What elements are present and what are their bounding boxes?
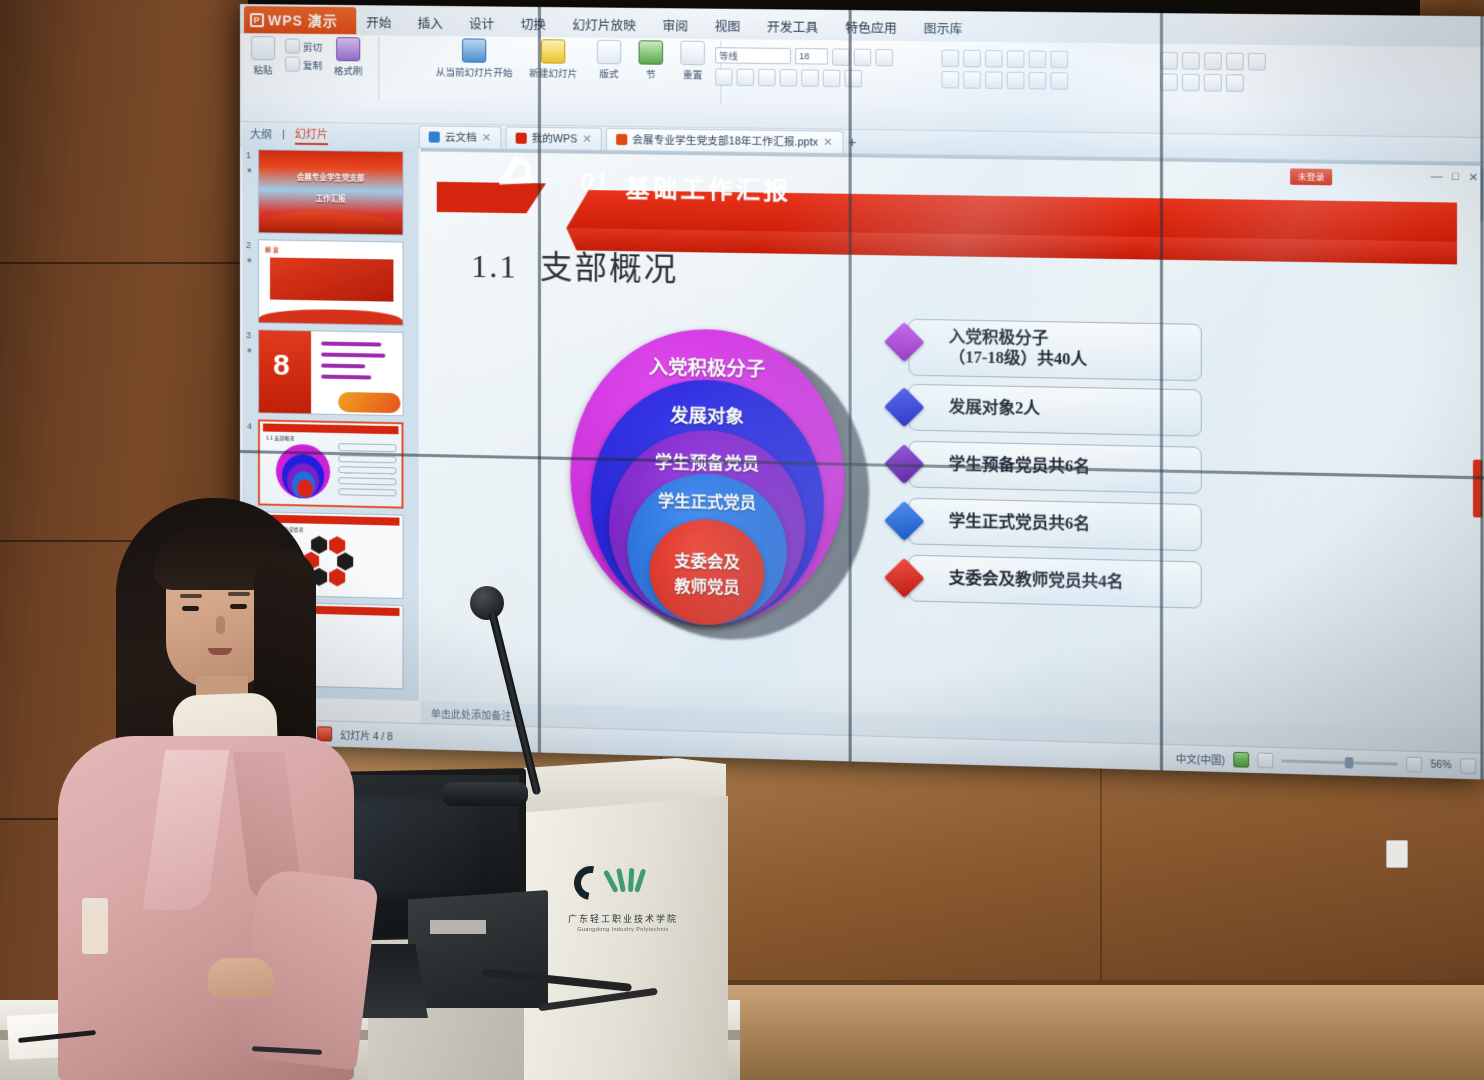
highlight-icon[interactable] xyxy=(844,70,862,87)
legend-row-full-members[interactable]: 学生正式党员共6名 xyxy=(890,497,1202,555)
font-color-icon[interactable] xyxy=(823,70,840,87)
thumb4-title: 1.1 支部概况 xyxy=(266,435,294,443)
subtitle-text: 支部概况 xyxy=(540,249,678,288)
copy-icon xyxy=(285,57,300,72)
legend-row-development[interactable]: 发展对象2人 xyxy=(890,383,1202,440)
select-icon[interactable] xyxy=(1226,74,1244,92)
notes-placeholder: 单击此处添加备注 xyxy=(431,705,512,722)
subtitle-number: 1.1 xyxy=(471,248,518,285)
pptx-file-icon xyxy=(616,133,627,144)
reset-icon xyxy=(680,41,705,66)
new-slide-label: 新建幻灯片 xyxy=(529,65,577,80)
cloud-icon xyxy=(429,131,440,142)
account-status-button[interactable]: 未登录 xyxy=(1290,168,1332,185)
tab-outline[interactable]: 大纲 xyxy=(250,126,272,142)
numbering-icon[interactable] xyxy=(963,50,981,68)
grow-font-icon[interactable] xyxy=(832,48,850,65)
tab-design[interactable]: 设计 xyxy=(469,13,494,32)
legend-full-members-text: 学生正式党员共6名 xyxy=(949,512,1090,536)
section-button[interactable]: 节 xyxy=(632,40,669,81)
tab-start[interactable]: 开始 xyxy=(366,12,391,31)
slide-editing-stage[interactable]: 01 基础工作汇报 1.1 支部概况 入党积极分子 发展对象 学 xyxy=(421,148,1481,729)
text-direction-icon[interactable] xyxy=(1029,72,1047,90)
zoom-out-icon[interactable] xyxy=(1257,753,1273,769)
legend-row-probationary[interactable]: 学生预备党员共6名 xyxy=(890,440,1202,498)
tab-developer[interactable]: 开发工具 xyxy=(767,16,818,36)
increase-indent-icon[interactable] xyxy=(1007,50,1025,68)
thumbnail-slide-1[interactable]: 1 ✷ 会展专业学生党支部 工作汇报 xyxy=(258,149,404,235)
section-title: 基础工作汇报 xyxy=(625,168,791,206)
ribbon-group-drawing xyxy=(1160,46,1266,133)
tab-view[interactable]: 视图 xyxy=(715,15,741,34)
new-slide-button[interactable]: 新建幻灯片 xyxy=(521,39,586,80)
strikethrough-icon[interactable] xyxy=(780,69,797,86)
zoom-slider[interactable] xyxy=(1282,759,1398,765)
eye-right xyxy=(230,604,247,609)
app-name: WPS 演示 xyxy=(268,10,338,31)
replace-icon[interactable] xyxy=(1204,74,1222,92)
shape-fill-icon[interactable] xyxy=(1226,53,1244,71)
legend-list: 入党积极分子 （17-18级）共40人 发展对象2人 学生预备党员共6名 xyxy=(890,318,1202,618)
thumbnail-number: 4 xyxy=(247,421,252,431)
equipment-label xyxy=(430,920,486,934)
format-painter-icon xyxy=(336,37,360,61)
new-slide-icon xyxy=(541,39,565,63)
play-slide-icon xyxy=(462,38,486,62)
thumb1-subtitle: 工作汇报 xyxy=(259,192,403,205)
cut-icon xyxy=(285,38,300,53)
mouth xyxy=(208,648,232,655)
line-spacing-icon[interactable] xyxy=(1029,51,1047,69)
my-wps-icon xyxy=(515,132,526,143)
paste-icon xyxy=(251,36,275,60)
cloud-doc-close-icon[interactable]: ✕ xyxy=(482,131,491,144)
ribbon-tab-strip[interactable]: 开始 插入 设计 切换 幻灯片放映 审阅 视图 开发工具 特色应用 图示库 xyxy=(366,9,962,39)
slide-scrollbar-marker[interactable] xyxy=(1473,460,1483,518)
find-icon[interactable] xyxy=(1182,74,1200,92)
copy-label: 复制 xyxy=(303,57,322,71)
thumb3-big-number: 8 xyxy=(273,351,290,381)
active-document-label: 会展专业学生党支部18年工作汇报.pptx xyxy=(632,132,818,150)
paste-label: 粘贴 xyxy=(253,62,272,76)
language-label: 中文(中国) xyxy=(1176,750,1225,767)
columns-icon[interactable] xyxy=(1007,72,1025,90)
sleeve-tag xyxy=(82,898,108,954)
thumbnail-animation-icon: ✷ xyxy=(246,256,253,265)
from-current-slide-button[interactable]: 从当前幻灯片开始 xyxy=(433,38,516,79)
zoom-level-label: 56% xyxy=(1431,759,1452,771)
active-document-tab[interactable]: 会展专业学生党支部18年工作汇报.pptx ✕ xyxy=(606,127,843,152)
wall-socket xyxy=(1386,840,1408,868)
cut-label: 剪切 xyxy=(303,39,322,53)
party-emblem-icon xyxy=(493,151,540,197)
maximize-icon[interactable]: □ xyxy=(1452,171,1459,184)
brow-left xyxy=(180,594,202,598)
ribbon-group-paragraph xyxy=(941,44,1068,131)
spellcheck-icon[interactable] xyxy=(1233,752,1249,768)
align-left-icon[interactable] xyxy=(1050,51,1068,69)
thumbnail-animation-icon: ✷ xyxy=(246,346,253,355)
presenter-hand xyxy=(208,958,274,998)
brow-right xyxy=(228,592,250,596)
thumb1-title: 会展专业学生党支部 xyxy=(259,172,403,184)
legend-row-committee[interactable]: 支委会及教师党员共4名 xyxy=(890,554,1202,613)
legend-activists-line1: 入党积极分子 xyxy=(949,328,1087,351)
cut-button[interactable]: 剪切 xyxy=(285,38,322,53)
panel-tab-strip: 大纲 | 幻灯片 xyxy=(242,122,419,148)
section-number: 01 xyxy=(581,169,609,197)
my-wps-label: 我的WPS xyxy=(532,130,578,146)
align-center-icon[interactable] xyxy=(941,71,959,89)
ribbon-group-font: 等线 18 xyxy=(715,41,893,128)
ribbon-group-slides: 从当前幻灯片开始 新建幻灯片 版式 节 重置 xyxy=(433,38,726,126)
university-name-cn: 广东轻工职业技术学院 xyxy=(568,914,678,924)
justify-icon[interactable] xyxy=(985,71,1003,89)
thumbnail-number: 3 xyxy=(246,330,251,340)
close-icon[interactable]: ✕ xyxy=(1468,171,1478,185)
ribbon-group-clipboard: 粘贴 剪切 复制 格式刷 xyxy=(246,36,383,122)
legend-row-activists[interactable]: 入党积极分子 （17-18级）共40人 xyxy=(890,318,1202,383)
underline-icon[interactable] xyxy=(758,69,775,86)
panel-tab-separator: | xyxy=(282,129,285,141)
tab-slideshow[interactable]: 幻灯片放映 xyxy=(572,14,636,34)
window-controls[interactable]: — □ ✕ xyxy=(1431,170,1479,184)
zoom-in-icon[interactable] xyxy=(1406,757,1422,773)
quick-style-icon[interactable] xyxy=(1204,52,1222,70)
wps-presentation-window: P WPS 演示 开始 插入 设计 切换 幻灯片放映 审阅 视图 开发工具 特色… xyxy=(240,4,1484,780)
italic-icon[interactable] xyxy=(737,69,754,86)
eye-left xyxy=(182,606,199,611)
tab-review[interactable]: 审阅 xyxy=(663,15,689,34)
bullets-icon[interactable] xyxy=(941,50,959,67)
legend-development-text: 发展对象2人 xyxy=(949,398,1040,420)
tab-special-apps[interactable]: 特色应用 xyxy=(845,17,897,37)
legend-activists-line2: （17-18级）共40人 xyxy=(949,348,1087,371)
copy-button[interactable]: 复制 xyxy=(285,57,322,72)
slide-subtitle: 1.1 支部概况 xyxy=(471,241,678,291)
tab-slides[interactable]: 幻灯片 xyxy=(295,125,328,144)
thumbnail-number: 1 xyxy=(246,150,251,160)
nose xyxy=(216,616,225,634)
microphone-base xyxy=(442,782,528,806)
section-label: 节 xyxy=(646,67,656,81)
fit-window-icon[interactable] xyxy=(1460,758,1476,774)
shapes-icon[interactable] xyxy=(1160,52,1178,70)
paste-button[interactable]: 粘贴 xyxy=(246,36,280,76)
thumbnail-slide-4[interactable]: 4 1.1 支部概况 xyxy=(258,419,404,508)
legend-probationary-text: 学生预备党员共6名 xyxy=(949,455,1090,478)
my-wps-tab[interactable]: 我的WPS ✕ xyxy=(505,126,602,149)
format-painter-label: 格式刷 xyxy=(334,63,363,77)
section-icon xyxy=(639,40,663,65)
align-right-icon[interactable] xyxy=(963,71,981,89)
layout-button[interactable]: 版式 xyxy=(591,40,628,81)
convert-smartart-icon[interactable] xyxy=(1050,72,1068,90)
tab-diagram-lib[interactable]: 图示库 xyxy=(924,17,963,37)
shape-effects-icon[interactable] xyxy=(1160,73,1178,91)
my-wps-close-icon[interactable]: ✕ xyxy=(582,132,591,145)
ring-committee-label-1: 支委会及 xyxy=(674,547,739,573)
shadow-icon[interactable] xyxy=(801,69,818,86)
microphone-head xyxy=(470,586,504,620)
shape-outline-icon[interactable] xyxy=(1248,53,1266,71)
thumbnail-slide-2[interactable]: 2 ✷ 前 言 xyxy=(258,239,404,326)
ribbon: 粘贴 剪切 复制 格式刷 xyxy=(240,34,1484,138)
legend-committee-text: 支委会及教师党员共4名 xyxy=(949,569,1124,594)
shrink-font-icon[interactable] xyxy=(854,49,872,66)
equipment-box xyxy=(408,890,548,1008)
thumb2-title: 前 言 xyxy=(265,244,279,253)
tab-transition[interactable]: 切换 xyxy=(521,13,546,32)
from-current-label: 从当前幻灯片开始 xyxy=(436,64,513,79)
font-size-box[interactable]: 18 xyxy=(795,48,828,65)
format-painter-button[interactable]: 格式刷 xyxy=(327,37,369,78)
bold-icon[interactable] xyxy=(715,68,732,85)
font-name-box[interactable]: 等线 xyxy=(715,47,791,64)
clear-format-icon[interactable] xyxy=(875,49,893,66)
layout-icon xyxy=(597,40,621,64)
tab-insert[interactable]: 插入 xyxy=(418,12,443,31)
cloud-doc-label: 云文档 xyxy=(445,129,477,145)
new-document-tab-button[interactable]: + xyxy=(848,133,856,149)
wps-logo-mark: P xyxy=(250,13,264,27)
thumbnail-slide-3[interactable]: 3 ✷ 8 xyxy=(258,329,404,416)
cloud-doc-tab[interactable]: 云文档 ✕ xyxy=(419,125,502,148)
current-slide[interactable]: 01 基础工作汇报 1.1 支部概况 入党积极分子 发展对象 学 xyxy=(421,151,1481,729)
reset-button[interactable]: 重置 xyxy=(674,41,711,82)
layout-label: 版式 xyxy=(599,66,618,80)
thumbnail-number: 2 xyxy=(246,240,251,250)
minimize-icon[interactable]: — xyxy=(1431,170,1443,184)
video-wall-display: P WPS 演示 开始 插入 设计 切换 幻灯片放映 审阅 视图 开发工具 特色… xyxy=(240,4,1484,780)
wps-logo: P WPS 演示 xyxy=(244,6,356,34)
ring-committee-label-2: 教师党员 xyxy=(674,572,739,598)
arrange-icon[interactable] xyxy=(1182,52,1200,70)
thumbnail-animation-icon: ✷ xyxy=(246,166,253,175)
active-document-close-icon[interactable]: ✕ xyxy=(823,135,832,148)
decrease-indent-icon[interactable] xyxy=(985,50,1003,68)
nested-circles-diagram: 入党积极分子 发展对象 学生预备党员 学生正式党员 支委会及 教师党员 xyxy=(570,327,877,668)
reset-label: 重置 xyxy=(683,67,702,81)
